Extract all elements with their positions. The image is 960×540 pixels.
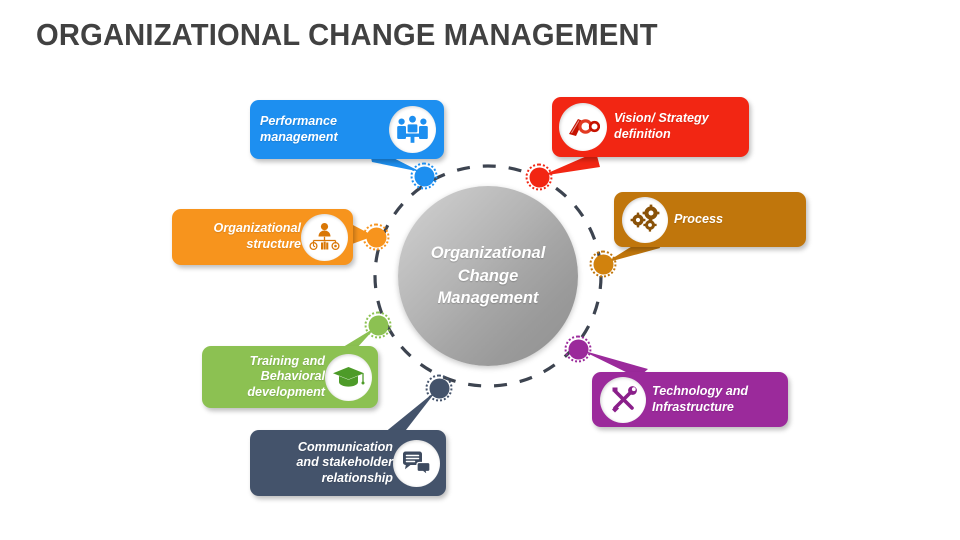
callout-vision-strategy-definition[interactable]: Vision/ Strategy definition: [552, 97, 749, 157]
binoculars-icon: [559, 103, 607, 151]
callout-label-process: Process: [674, 212, 723, 228]
node-dot-core: [568, 339, 588, 359]
node-dot-organizational-structure[interactable]: [363, 224, 390, 251]
callout-label-vision-strategy-definition: Vision/ Strategy definition: [614, 111, 709, 142]
center-hub-label: Organizational Change Management: [431, 242, 546, 310]
gears-icon: [622, 197, 668, 243]
node-dot-technology-and-infrastructure[interactable]: [565, 336, 592, 363]
node-dot-process[interactable]: [590, 251, 617, 278]
callout-communication-and-stakeholder-relationship[interactable]: Communication and stakeholder relationsh…: [250, 430, 446, 496]
callout-label-performance-management: Performance management: [260, 114, 338, 145]
callout-organizational-structure[interactable]: Organizational structure: [172, 209, 353, 265]
callout-label-technology-and-infrastructure: Technology and Infrastructure: [652, 384, 748, 415]
node-dot-communication-and-stakeholder-relationship[interactable]: [426, 375, 453, 402]
node-dot-vision-strategy-definition[interactable]: [526, 164, 553, 191]
node-dot-core: [414, 166, 434, 186]
graduation-cap-icon: [325, 354, 372, 401]
tools-icon: [600, 377, 646, 423]
callout-label-communication-and-stakeholder-relationship: Communication and stakeholder relationsh…: [260, 440, 393, 487]
org-chart-icon: [301, 214, 348, 261]
speech-bubbles-icon: [393, 440, 440, 487]
center-hub: Organizational Change Management: [398, 186, 578, 366]
node-dot-core: [593, 254, 613, 274]
callout-training-and-behavioral-development[interactable]: Training and Behavioral development: [202, 346, 378, 408]
node-dot-performance-management[interactable]: [411, 163, 438, 190]
node-dot-core: [429, 378, 449, 398]
node-dot-core: [529, 167, 549, 187]
callout-technology-and-infrastructure[interactable]: Technology and Infrastructure: [592, 372, 788, 427]
callout-process[interactable]: Process: [614, 192, 806, 247]
diagram-stage: Organizational Change Management Perform…: [0, 0, 960, 540]
node-dot-core: [366, 227, 386, 247]
node-dot-training-and-behavioral-development[interactable]: [365, 312, 392, 339]
callout-label-organizational-structure: Organizational structure: [180, 221, 301, 252]
callout-label-training-and-behavioral-development: Training and Behavioral development: [210, 354, 325, 401]
node-dot-core: [368, 315, 388, 335]
callout-performance-management[interactable]: Performance management: [250, 100, 444, 159]
meeting-people-icon: [389, 106, 436, 153]
slide-canvas: ORGANIZATIONAL CHANGE MANAGEMENT: [0, 0, 960, 540]
